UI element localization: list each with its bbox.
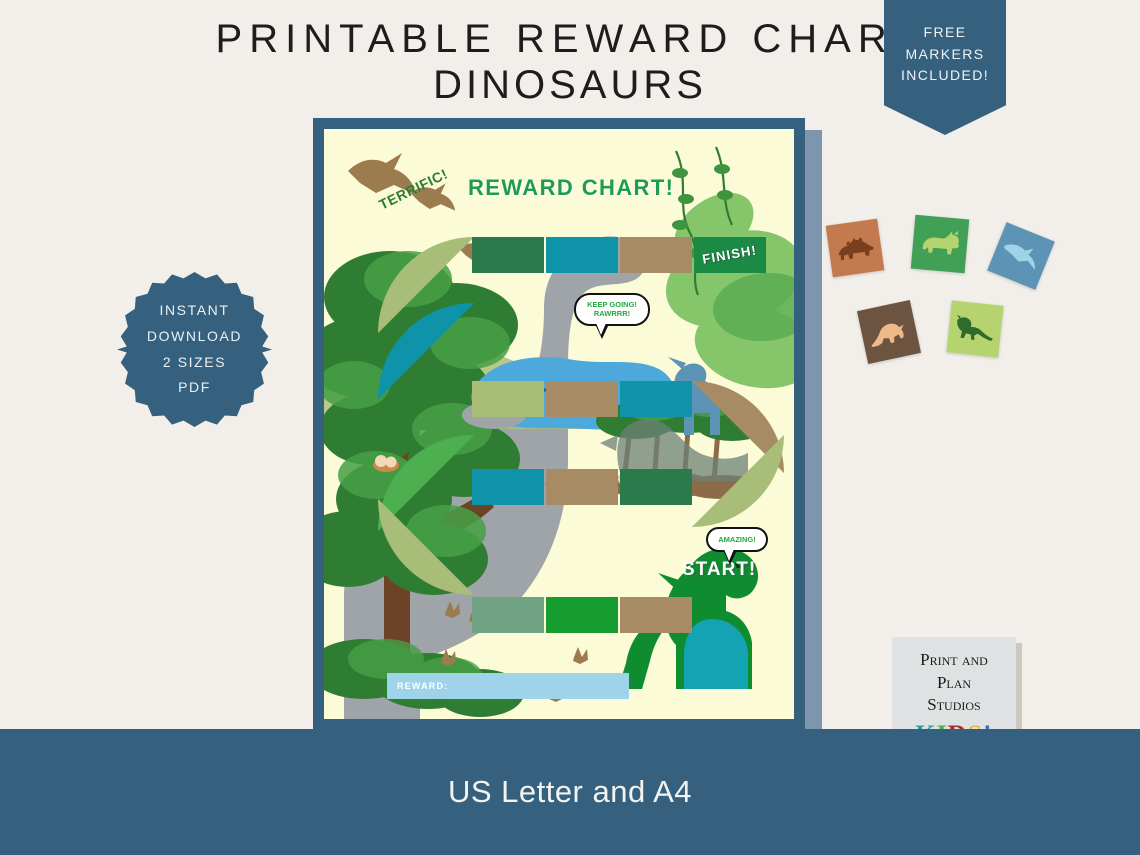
starburst-line1: INSTANT (159, 298, 229, 324)
poster-frame: FINISH! REWARD CHART! TERRIFIC! START! (313, 118, 805, 730)
starburst-line3: 2 SIZES (163, 350, 226, 376)
start-label: START! (682, 559, 756, 581)
board-tile[interactable] (546, 597, 618, 633)
bubble-top-line2: RAWRRR! (594, 309, 630, 318)
footer-banner: US Letter and A4 (0, 729, 1140, 855)
board-tile[interactable] (546, 469, 618, 505)
triceratops-icon (917, 221, 964, 268)
velociraptor-icon (952, 306, 998, 352)
board-tile[interactable] (472, 597, 544, 633)
board-tile[interactable] (472, 381, 544, 417)
reward-chart-title: REWARD CHART! (468, 175, 674, 201)
board-tile[interactable] (472, 237, 544, 273)
board-tile[interactable] (546, 381, 618, 417)
footer-text: US Letter and A4 (448, 774, 692, 810)
board-tile[interactable] (620, 237, 692, 273)
logo-line2: Plan (937, 672, 971, 694)
bubble-top-line1: KEEP GOING! (587, 300, 637, 309)
keep-going-speech-bubble: KEEP GOING! RAWRRR! (574, 293, 650, 326)
board-tile[interactable] (472, 469, 544, 505)
starburst-line2: DOWNLOAD (147, 324, 242, 350)
reward-chart-artwork: FINISH! REWARD CHART! TERRIFIC! START! (324, 129, 794, 719)
ribbon-line3: INCLUDED! (884, 65, 1006, 87)
amazing-speech-bubble: AMAZING! (706, 527, 768, 552)
free-markers-ribbon-badge: FREE MARKERS INCLUDED! (884, 0, 1006, 135)
marker-tile-triceratops[interactable] (911, 215, 970, 274)
starburst-line4: PDF (178, 375, 211, 401)
marker-tile-stegosaurus[interactable] (826, 219, 885, 278)
marker-tile-pterodactyl[interactable] (987, 222, 1055, 290)
logo-line1: Print and (920, 649, 988, 671)
bubble-bottom-text: AMAZING! (718, 535, 756, 544)
reward-input-field[interactable]: REWARD: (387, 673, 629, 699)
pterodactyl-icon (994, 229, 1048, 283)
poster-listing-stage: PRINTABLE REWARD CHART DINOSAURS FREE MA… (0, 0, 1140, 855)
instant-download-starburst-badge: INSTANT DOWNLOAD 2 SIZES PDF (117, 272, 272, 427)
marker-tile-velociraptor[interactable] (946, 300, 1003, 357)
ribbon-line2: MARKERS (884, 44, 1006, 66)
tyrannosaurus-icon (863, 306, 914, 357)
logo-line3: Studios (927, 694, 980, 716)
marker-tile-tyrannosaurus[interactable] (857, 300, 921, 364)
stegosaurus-icon (832, 225, 879, 272)
board-tile[interactable] (620, 597, 692, 633)
board-tile[interactable] (620, 469, 692, 505)
board-tile[interactable] (546, 237, 618, 273)
reward-field-label: REWARD: (397, 681, 448, 691)
board-tile[interactable] (620, 381, 692, 417)
ribbon-line1: FREE (884, 22, 1006, 44)
